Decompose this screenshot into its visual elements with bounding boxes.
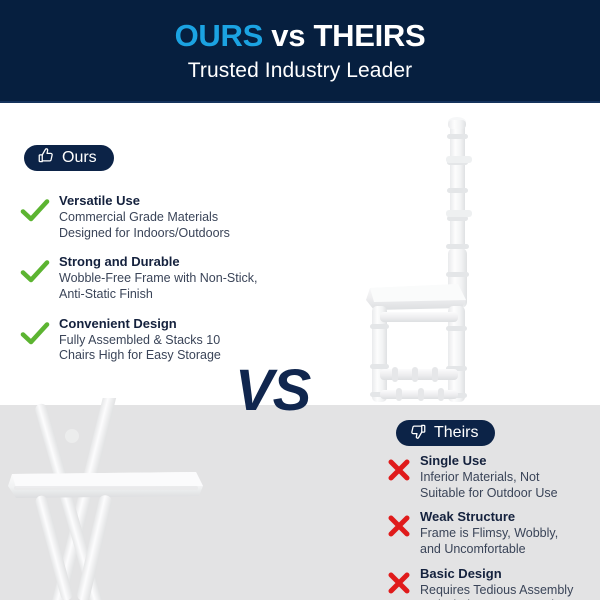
- x-icon: [386, 568, 412, 598]
- title-ours: OURS: [175, 18, 263, 53]
- list-item-title: Versatile Use: [59, 193, 230, 209]
- ours-badge: Ours: [24, 145, 114, 171]
- theirs-badge-label: Theirs: [434, 425, 478, 441]
- list-item-desc: Requires Tedious Assembly and Chairs Do …: [420, 583, 573, 600]
- list-item-desc: Wobble-Free Frame with Non-Stick, Anti-S…: [59, 271, 257, 303]
- list-item-title: Single Use: [420, 453, 558, 469]
- ours-feature-list: Versatile Use Commercial Grade Materials…: [20, 192, 285, 376]
- list-item: Versatile Use Commercial Grade Materials…: [20, 192, 285, 241]
- list-item: Strong and Durable Wobble-Free Frame wit…: [20, 253, 285, 302]
- list-item-text: Weak Structure Frame is Flimsy, Wobbly, …: [420, 508, 558, 557]
- list-item-desc: Frame is Flimsy, Wobbly, and Uncomfortab…: [420, 526, 558, 558]
- title-vs: vs: [263, 18, 314, 53]
- theirs-feature-list: Single Use Inferior Materials, Not Suita…: [386, 452, 600, 600]
- list-item-text: Single Use Inferior Materials, Not Suita…: [420, 452, 558, 501]
- ours-product-image-chiavari-chair: [330, 112, 580, 412]
- ours-badge-label: Ours: [62, 150, 97, 166]
- list-item-desc: Inferior Materials, Not Suitable for Out…: [420, 470, 558, 502]
- list-item: Basic Design Requires Tedious Assembly a…: [386, 565, 600, 600]
- list-item-title: Convenient Design: [59, 316, 221, 332]
- theirs-product-image-folding-chair: [0, 398, 260, 600]
- vs-divider-label: VS: [235, 362, 310, 420]
- list-item-title: Strong and Durable: [59, 254, 257, 270]
- list-item: Convenient Design Fully Assembled & Stac…: [20, 315, 285, 364]
- page-title: OURS vs THEIRS: [175, 20, 426, 51]
- check-icon: [20, 194, 50, 228]
- check-icon: [20, 317, 50, 351]
- page-subtitle: Trusted Industry Leader: [188, 60, 412, 81]
- list-item-text: Convenient Design Fully Assembled & Stac…: [59, 315, 221, 364]
- list-item-desc: Commercial Grade Materials Designed for …: [59, 210, 230, 242]
- list-item-title: Basic Design: [420, 566, 573, 582]
- check-icon: [20, 255, 50, 289]
- x-icon: [386, 455, 412, 485]
- thumbs-down-icon: [409, 422, 427, 445]
- thumbs-up-icon: [37, 147, 55, 170]
- header-banner: OURS vs THEIRS Trusted Industry Leader: [0, 0, 600, 103]
- title-theirs: THEIRS: [314, 18, 426, 53]
- list-item: Single Use Inferior Materials, Not Suita…: [386, 452, 600, 501]
- list-item-text: Basic Design Requires Tedious Assembly a…: [420, 565, 573, 600]
- list-item-text: Versatile Use Commercial Grade Materials…: [59, 192, 230, 241]
- comparison-infographic: OURS vs THEIRS Trusted Industry Leader O…: [0, 0, 600, 600]
- list-item: Weak Structure Frame is Flimsy, Wobbly, …: [386, 508, 600, 557]
- theirs-badge: Theirs: [396, 420, 495, 446]
- list-item-desc: Fully Assembled & Stacks 10 Chairs High …: [59, 333, 221, 365]
- list-item-text: Strong and Durable Wobble-Free Frame wit…: [59, 253, 257, 302]
- x-icon: [386, 511, 412, 541]
- list-item-title: Weak Structure: [420, 509, 558, 525]
